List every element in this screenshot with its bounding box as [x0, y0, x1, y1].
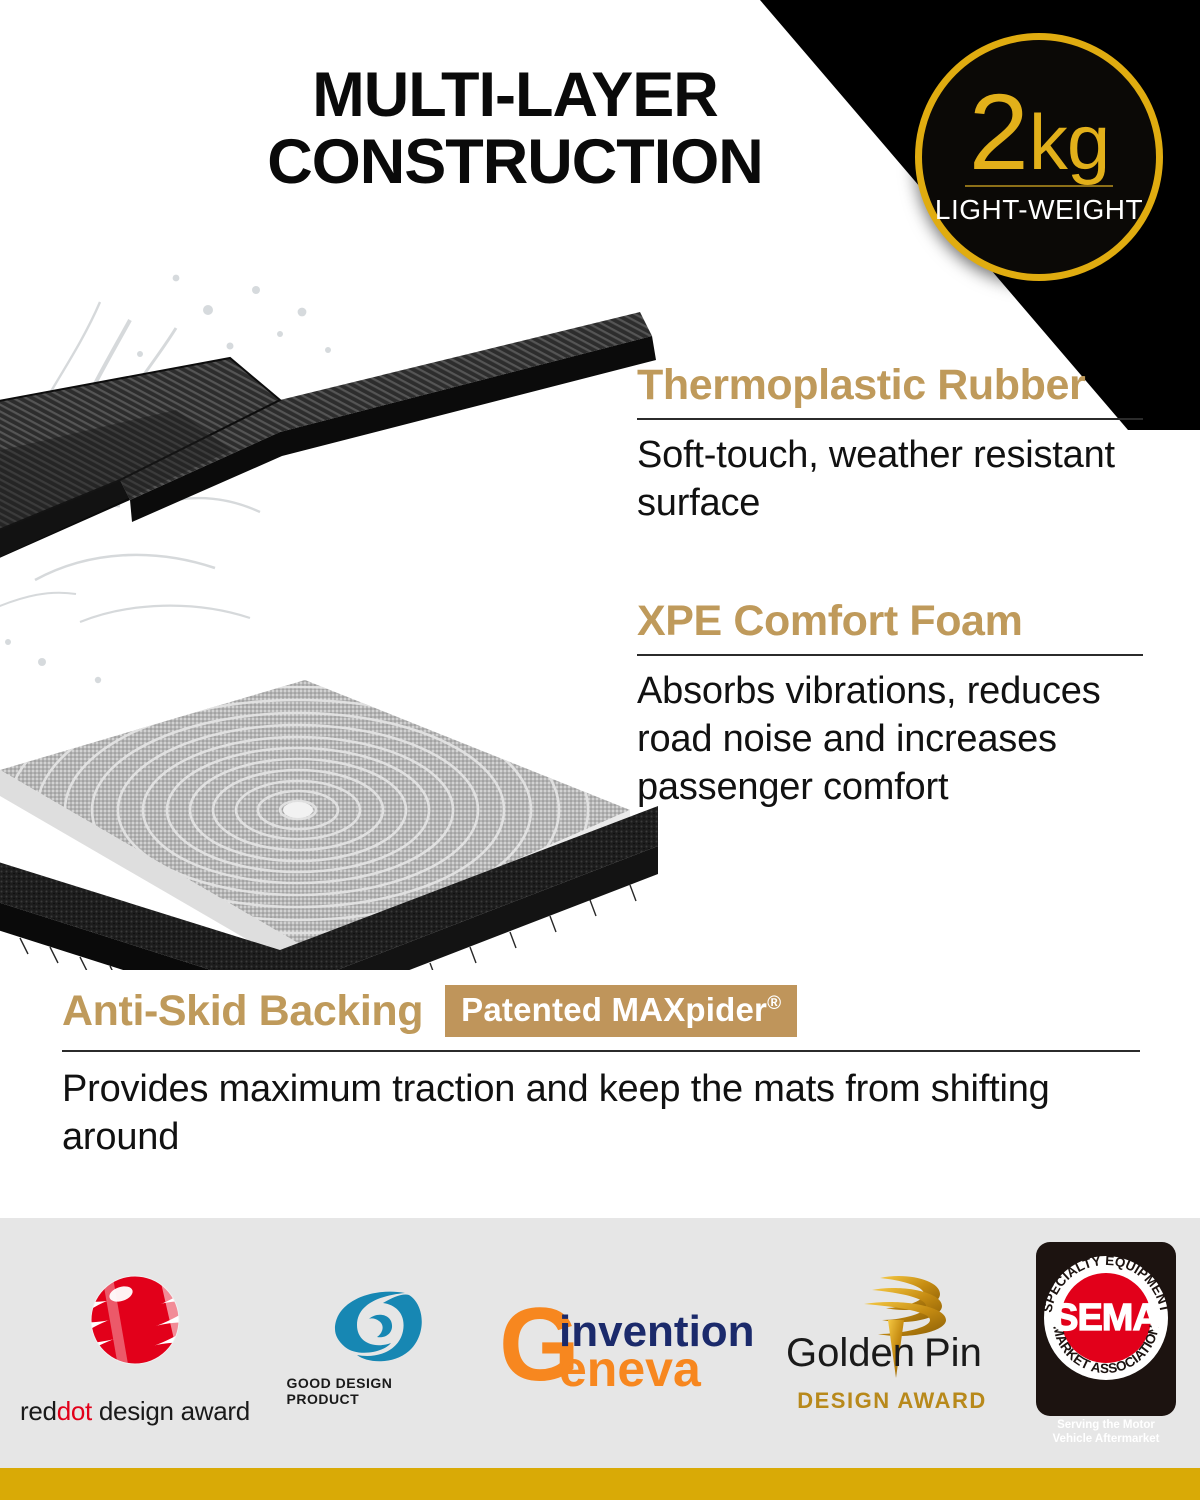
inventions-geneva-logo-icon: G inventions eneva	[497, 1288, 755, 1398]
badge-divider	[965, 185, 1113, 187]
svg-text:eneva: eneva	[559, 1341, 702, 1397]
bottom-gold-bar	[0, 1468, 1200, 1500]
page-title-line2: CONSTRUCTION	[215, 129, 815, 196]
feature-body: Soft-touch, weather resistant surface	[637, 432, 1157, 528]
feature-heading: XPE Comfort Foam	[637, 598, 1157, 645]
registered-trademark-icon: ®	[767, 993, 781, 1014]
svg-text:SEMA: SEMA	[1053, 1297, 1159, 1339]
award-good-design-product: GOOD DESIGN PRODUCT	[287, 1279, 467, 1407]
feature-body: Absorbs vibrations, reduces road noise a…	[637, 668, 1157, 812]
patented-maxpider-badge: Patented MAXpider®	[445, 985, 797, 1037]
good-design-label: GOOD DESIGN PRODUCT	[287, 1375, 467, 1407]
reddot-label-dot: dot	[57, 1396, 92, 1426]
page-title: MULTI-LAYER CONSTRUCTION	[215, 62, 815, 196]
product-layers-illustration	[0, 250, 660, 970]
feature-heading: Thermoplastic Rubber	[637, 362, 1157, 409]
feature-divider	[637, 418, 1143, 420]
reddot-label: reddot design award	[20, 1396, 250, 1427]
sema-logo-icon: SPECIALTY EQUIPMENT MARKET ASSOCIATION S…	[1031, 1240, 1181, 1418]
reddot-label-rest: design award	[92, 1396, 250, 1426]
badge-number: 2	[969, 82, 1028, 181]
anti-skid-body: Provides maximum traction and keep the m…	[62, 1066, 1142, 1162]
anti-skid-heading: Anti-Skid Backing	[62, 987, 423, 1036]
badge-label: LIGHT-WEIGHT	[935, 194, 1143, 226]
feature-anti-skid-backing: Anti-Skid Backing Patented MAXpider® Pro…	[62, 985, 1142, 1162]
sema-sublabel-line1: Serving the Motor	[1053, 1418, 1160, 1432]
sema-sublabel-line2: Vehicle Aftermarket	[1053, 1432, 1160, 1446]
badge-weight-value: 2 kg	[969, 82, 1109, 181]
svg-text:Pin: Pin	[924, 1331, 982, 1375]
svg-text:Golden: Golden	[786, 1331, 915, 1375]
feature-xpe-comfort-foam: XPE Comfort Foam Absorbs vibrations, red…	[637, 598, 1157, 812]
feature-list: Thermoplastic Rubber Soft-touch, weather…	[637, 362, 1157, 812]
anti-skid-divider	[62, 1050, 1140, 1052]
feature-thermoplastic-rubber: Thermoplastic Rubber Soft-touch, weather…	[637, 362, 1157, 528]
award-inventions-geneva: G inventions eneva	[493, 1288, 758, 1398]
feature-divider	[637, 654, 1143, 656]
award-sema: SPECIALTY EQUIPMENT MARKET ASSOCIATION S…	[1026, 1240, 1186, 1447]
good-design-gd-icon	[313, 1279, 441, 1371]
golden-pin-icon: Golden Pin	[786, 1272, 998, 1390]
award-golden-pin-design-award: Golden Pin DESIGN AWARD	[785, 1272, 1000, 1414]
award-reddot-design-award: reddot design award	[10, 1260, 260, 1427]
reddot-sphere-icon	[71, 1260, 199, 1388]
page-title-line1: MULTI-LAYER	[215, 62, 815, 129]
infographic-page: MULTI-LAYER CONSTRUCTION 2 kg LIGHT-WEIG…	[0, 0, 1200, 1500]
patent-badge-text: Patented MAXpider	[461, 991, 767, 1028]
sema-sublabel: Serving the Motor Vehicle Aftermarket	[1053, 1418, 1160, 1447]
awards-band: reddot design award GOOD DESIGN PRODUCT …	[0, 1218, 1200, 1468]
reddot-label-red: red	[20, 1396, 57, 1426]
golden-pin-sublabel: DESIGN AWARD	[797, 1388, 987, 1414]
light-weight-badge: 2 kg LIGHT-WEIGHT	[915, 33, 1163, 281]
anti-skid-heading-row: Anti-Skid Backing Patented MAXpider®	[62, 985, 1142, 1037]
badge-unit: kg	[1029, 107, 1109, 179]
